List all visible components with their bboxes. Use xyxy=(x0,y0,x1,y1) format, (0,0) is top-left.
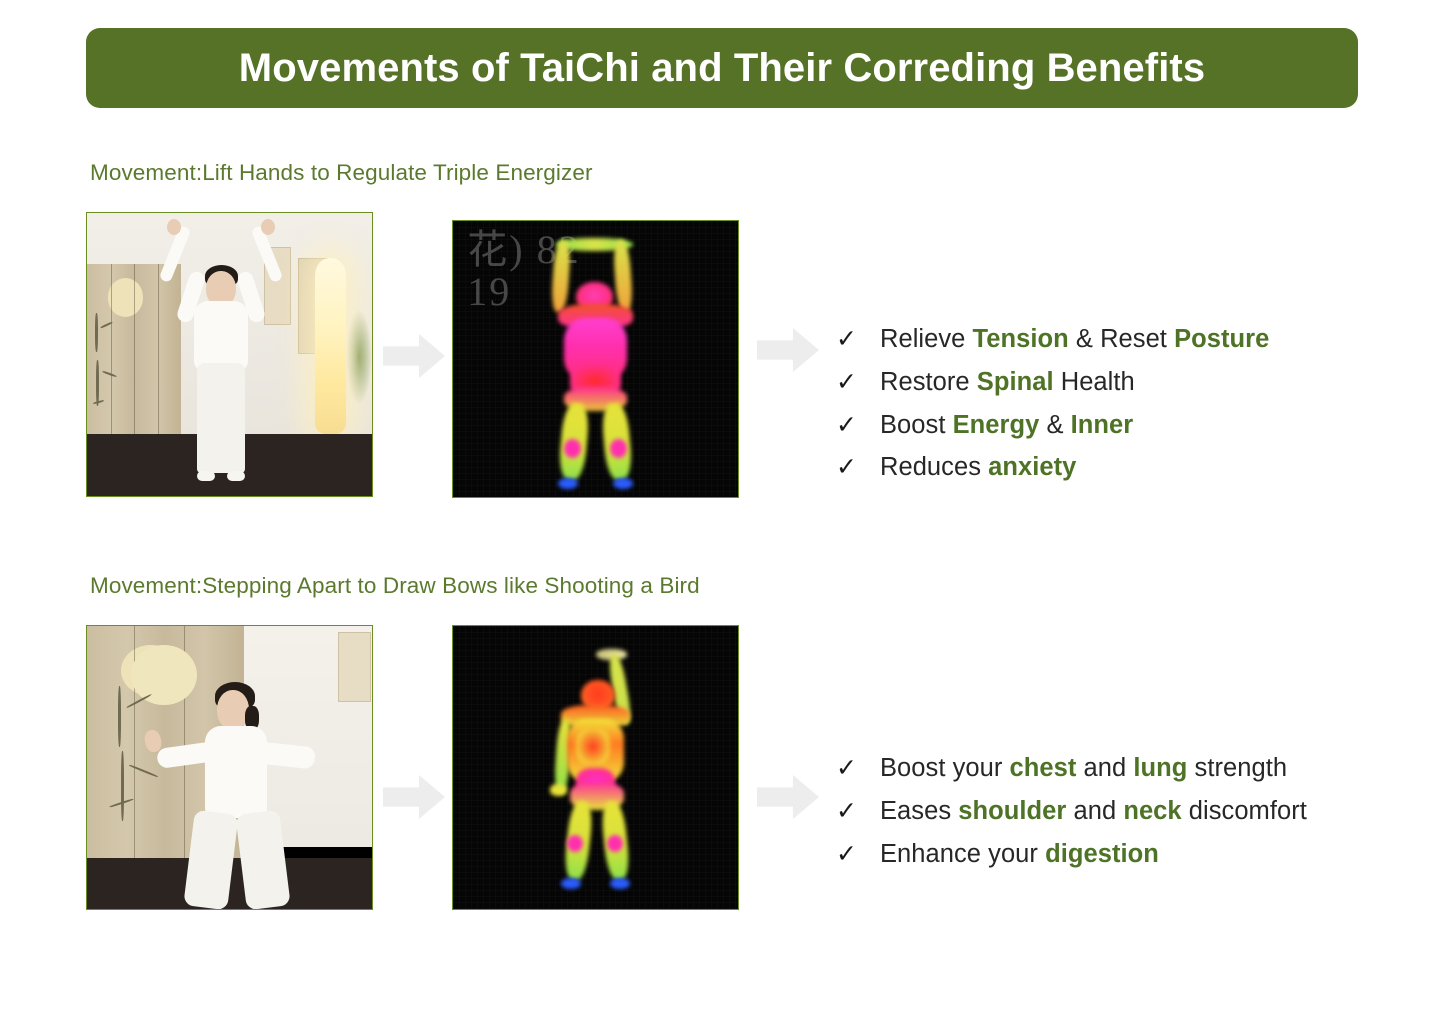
movement-row-2: ✓ Boost your chest and lung strength ✓ E… xyxy=(0,623,1445,913)
check-icon: ✓ xyxy=(836,795,880,829)
right-arrow-icon xyxy=(757,775,819,819)
benefit-text: Reduces anxiety xyxy=(880,450,1076,484)
benefit-text: Enhance your digestion xyxy=(880,837,1159,871)
benefit-item: ✓ Reduces anxiety xyxy=(836,450,1396,485)
thermal-scan-1: 花) 82 19 xyxy=(452,220,739,498)
thermal-scan-2 xyxy=(452,625,739,910)
check-icon: ✓ xyxy=(836,752,880,786)
benefits-list-2: ✓ Boost your chest and lung strength ✓ E… xyxy=(836,751,1396,879)
movement-row-1: 花) 82 19 ✓ Relieve Tension & Reset Po xyxy=(0,210,1445,500)
check-icon: ✓ xyxy=(836,366,880,400)
benefit-item: ✓ Boost Energy & Inner xyxy=(836,408,1396,443)
benefit-text: Eases shoulder and neck discomfort xyxy=(880,794,1307,828)
benefit-item: ✓ Boost your chest and lung strength xyxy=(836,751,1396,786)
right-arrow-icon xyxy=(383,334,445,378)
benefit-text: Boost Energy & Inner xyxy=(880,408,1133,442)
benefit-item: ✓ Eases shoulder and neck discomfort xyxy=(836,794,1396,829)
right-arrow-icon xyxy=(757,328,819,372)
check-icon: ✓ xyxy=(836,409,880,443)
taichi-photo-1 xyxy=(86,212,373,497)
check-icon: ✓ xyxy=(836,838,880,872)
movement-label-1: Movement:Lift Hands to Regulate Triple E… xyxy=(90,160,593,186)
check-icon: ✓ xyxy=(836,323,880,357)
benefit-text: Restore Spinal Health xyxy=(880,365,1135,399)
title-banner: Movements of TaiChi and Their Correding … xyxy=(86,28,1358,108)
benefit-item: ✓ Enhance your digestion xyxy=(836,837,1396,872)
movement-label-2: Movement:Stepping Apart to Draw Bows lik… xyxy=(90,573,700,599)
page-title: Movements of TaiChi and Their Correding … xyxy=(239,48,1205,88)
benefit-item: ✓ Restore Spinal Health xyxy=(836,365,1396,400)
benefits-list-1: ✓ Relieve Tension & Reset Posture ✓ Rest… xyxy=(836,322,1396,493)
check-icon: ✓ xyxy=(836,451,880,485)
benefit-item: ✓ Relieve Tension & Reset Posture xyxy=(836,322,1396,357)
benefit-text: Boost your chest and lung strength xyxy=(880,751,1287,785)
benefit-text: Relieve Tension & Reset Posture xyxy=(880,322,1269,356)
right-arrow-icon xyxy=(383,775,445,819)
taichi-photo-2 xyxy=(86,625,373,910)
